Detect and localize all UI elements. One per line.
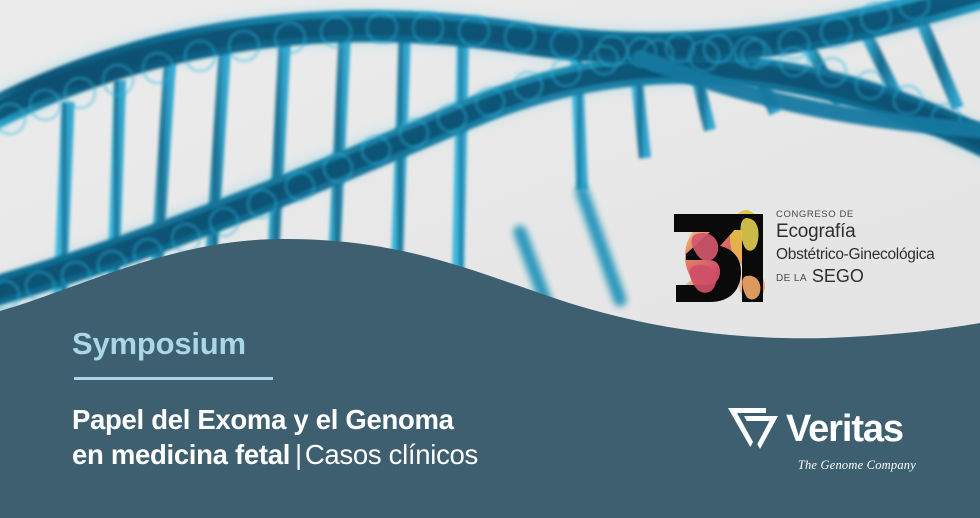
symposium-title: Papel del Exoma y el Genoma en medicina … <box>72 402 632 472</box>
veritas-logo: Veritas The Genome Company <box>726 404 918 478</box>
nested-triangles-mark-icon <box>726 404 782 454</box>
title-line-2-strong: en medicina fetal <box>72 439 290 470</box>
sego-dela-label: DE LA <box>776 273 807 284</box>
sego-line-sego: DE LA SEGO <box>776 266 902 287</box>
sego-line-ecografia: Ecografía <box>776 221 902 243</box>
congress-number-31-icon <box>668 204 768 304</box>
veritas-wordmark: Veritas <box>786 410 903 448</box>
sego-line-congreso: CONGRESO DE <box>776 210 902 220</box>
sego-logo-text: CONGRESO DE Ecografía Obstétrico-Ginecol… <box>776 210 902 287</box>
title-line-2-light: Casos clínicos <box>305 439 478 470</box>
title-line-2: en medicina fetal|Casos clínicos <box>72 437 632 472</box>
symposium-banner: CONGRESO DE Ecografía Obstétrico-Ginecol… <box>0 0 980 518</box>
title-separator: | <box>290 439 305 470</box>
divider-rule <box>74 377 273 380</box>
title-line-1: Papel del Exoma y el Genoma <box>72 402 632 437</box>
sego-line-obstetrico: Obstétrico-Ginecológica <box>776 246 902 264</box>
sego-congress-logo: CONGRESO DE Ecografía Obstétrico-Ginecol… <box>668 204 900 308</box>
veritas-tagline: The Genome Company <box>726 458 918 473</box>
symposium-text-block: Symposium Papel del Exoma y el Genoma en… <box>72 328 632 472</box>
sego-acronym: SEGO <box>812 266 864 286</box>
veritas-logo-row: Veritas <box>726 404 918 454</box>
symposium-eyebrow: Symposium <box>72 328 632 359</box>
